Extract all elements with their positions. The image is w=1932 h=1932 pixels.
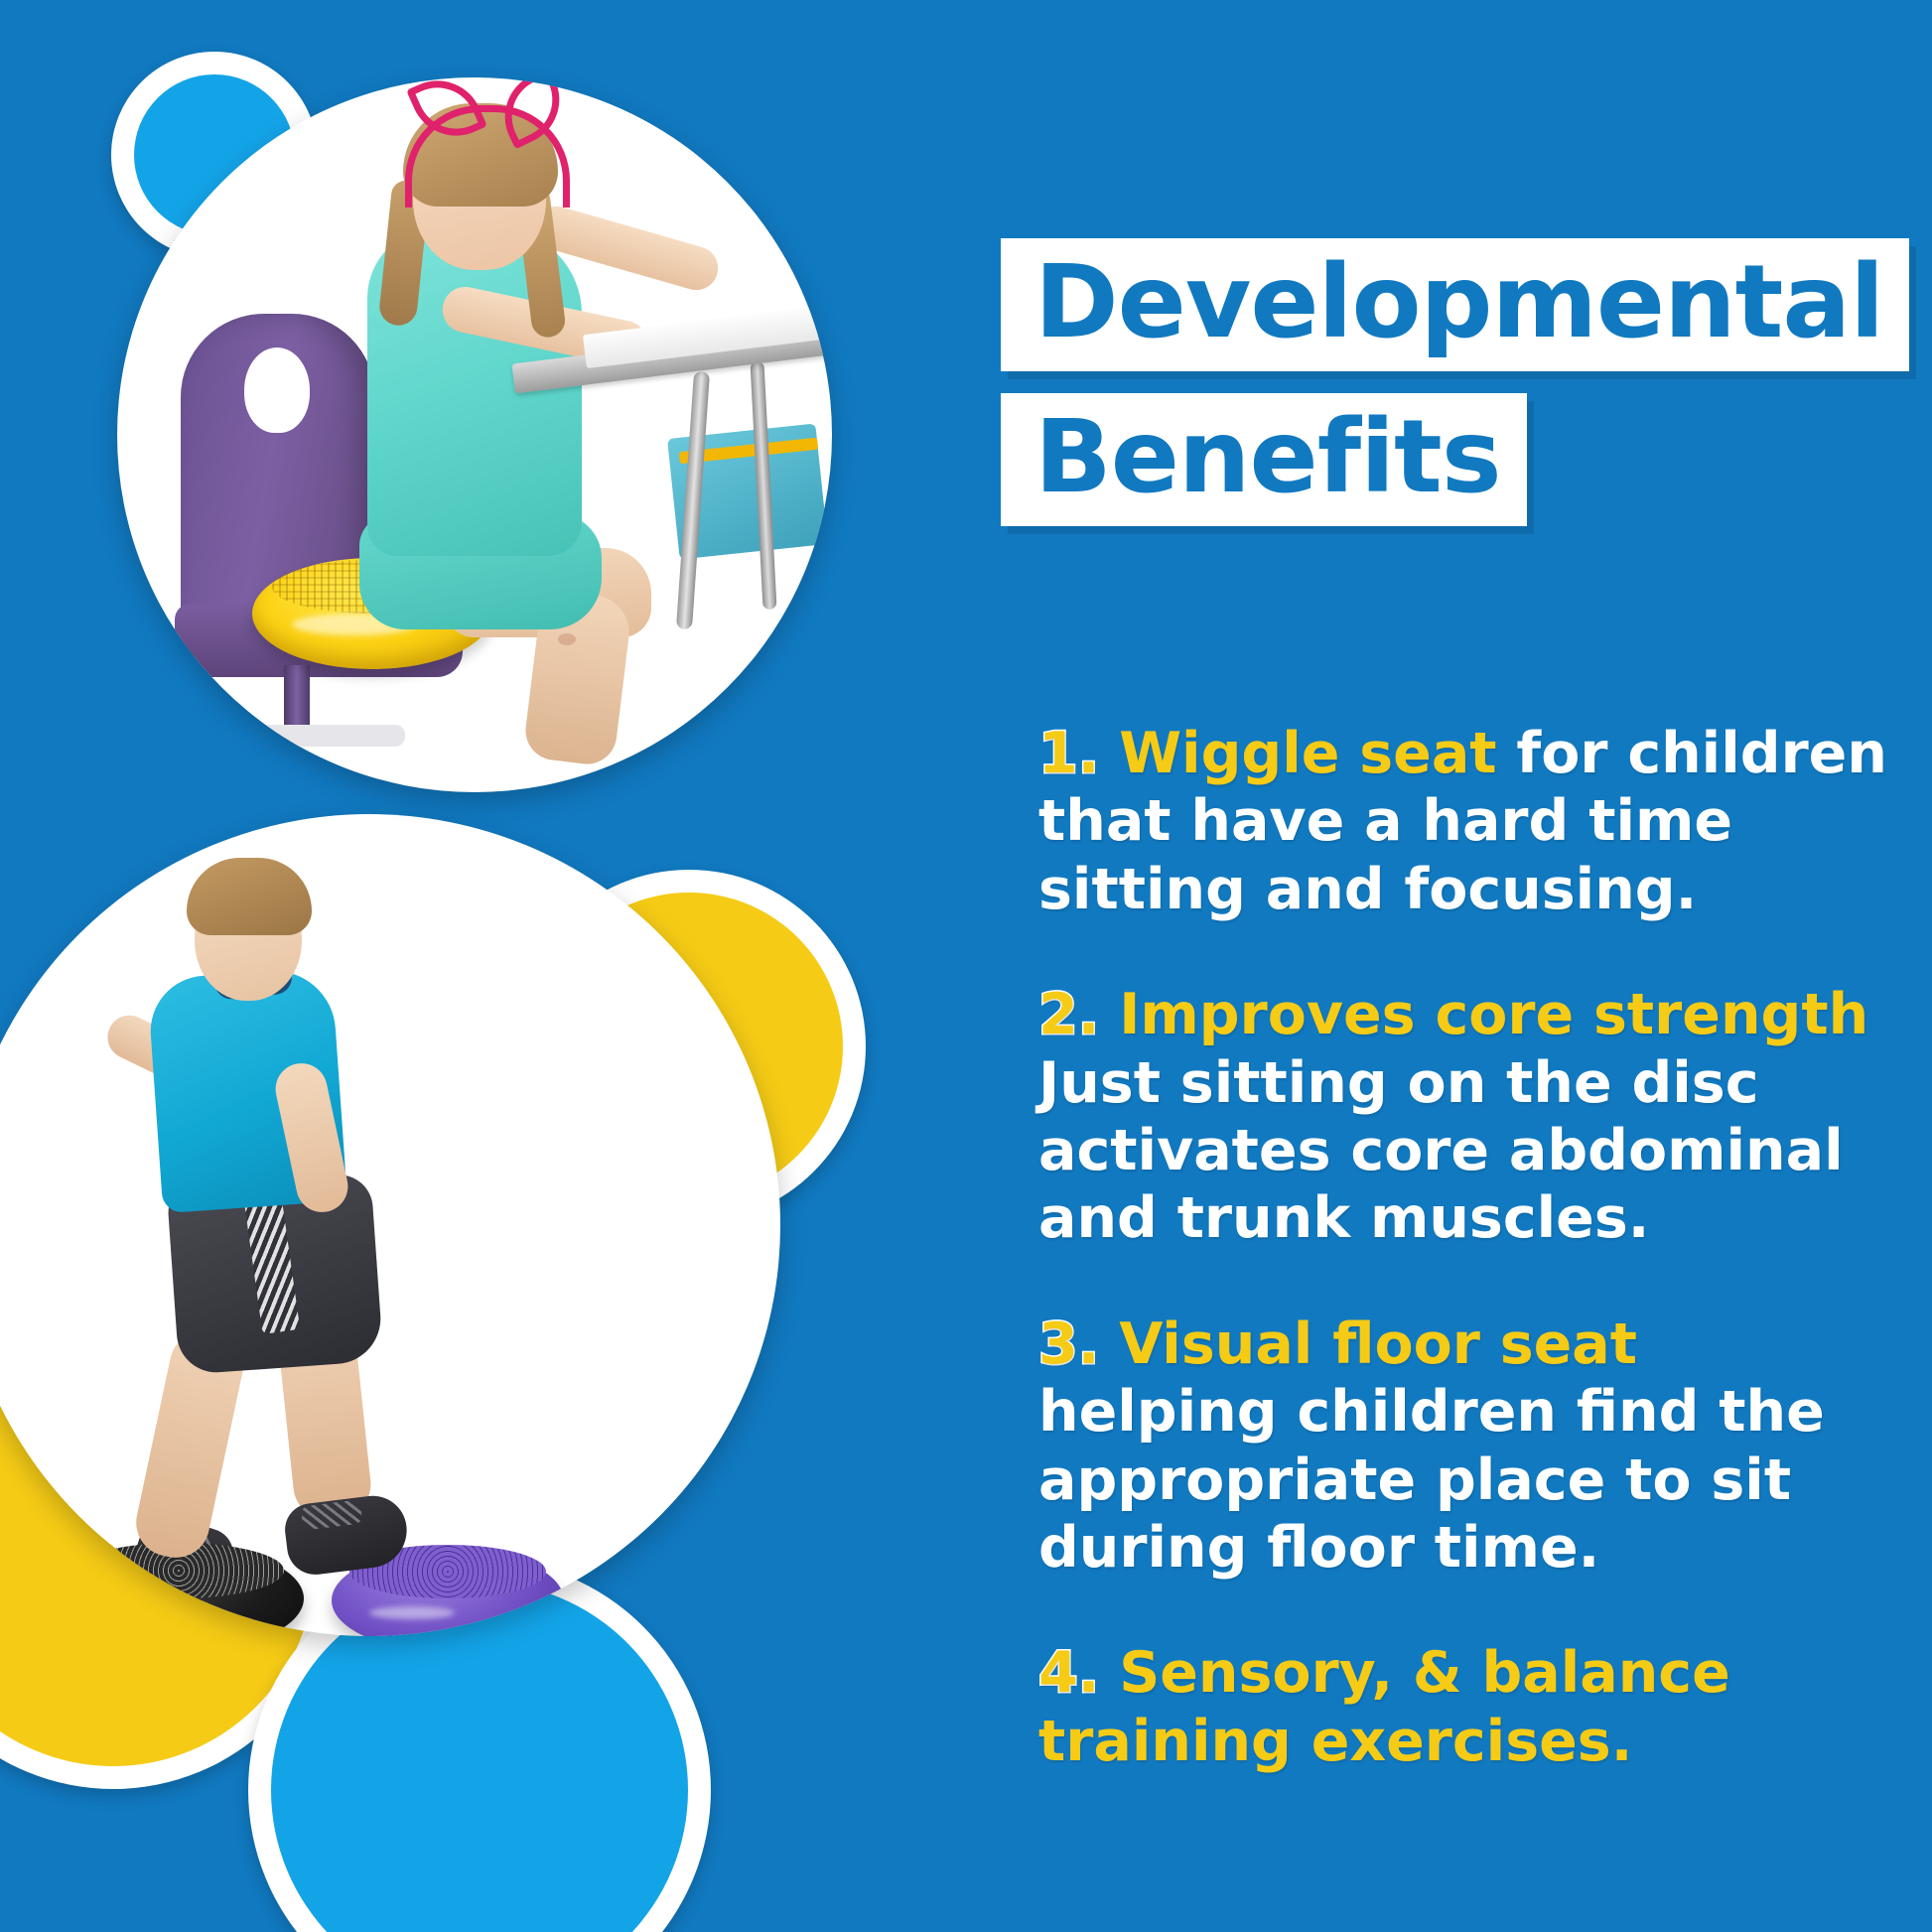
benefits-list: 1. Wiggle seat for children that have a … bbox=[1038, 663, 1888, 1775]
benefit-item-3: 3. Visual floor seat helping children fi… bbox=[1038, 1311, 1888, 1583]
benefit-4-lead: Sensory, & balance bbox=[1119, 1640, 1730, 1706]
title-banner-line1: Developmental bbox=[1001, 238, 1909, 371]
benefit-3-number: 3. bbox=[1038, 1311, 1099, 1377]
benefit-1-lead: Wiggle seat bbox=[1119, 721, 1496, 786]
chair-foot bbox=[236, 725, 405, 747]
benefit-3-lead: Visual floor seat bbox=[1119, 1311, 1637, 1377]
title-text-line1: Developmental bbox=[1035, 252, 1883, 353]
title-text-line2: Benefits bbox=[1035, 407, 1501, 508]
benefit-4-text: training exercises. bbox=[1038, 1709, 1632, 1774]
disc-gloss-purple bbox=[369, 1606, 455, 1619]
page-title: Developmental Benefits bbox=[1001, 238, 1932, 548]
benefit-item-1: 1. Wiggle seat for children that have a … bbox=[1038, 720, 1888, 923]
benefit-2-lead: Improves core strength bbox=[1119, 982, 1868, 1047]
girl-knee-mark bbox=[558, 633, 576, 645]
photo-bottom-scene bbox=[0, 814, 780, 1636]
benefit-2-text: Just sitting on the disc activates core … bbox=[1038, 1050, 1844, 1252]
disc-gloss-black bbox=[97, 1604, 189, 1618]
title-banner-line2: Benefits bbox=[1001, 393, 1527, 526]
benefit-1-number: 1. bbox=[1038, 721, 1099, 786]
photo-girl-on-wiggle-seat bbox=[117, 77, 832, 792]
photo-boy-on-balance-discs bbox=[0, 814, 780, 1636]
boy-hair bbox=[187, 858, 312, 935]
infographic-poster: Developmental Benefits 1. Wiggle seat fo… bbox=[0, 0, 1932, 1932]
benefit-item-2: 2. Improves core strength Just sitting o… bbox=[1038, 981, 1888, 1253]
benefit-2-number: 2. bbox=[1038, 982, 1099, 1047]
benefit-item-4: 4. Sensory, & balance training exercises… bbox=[1038, 1639, 1888, 1775]
photo-top-scene bbox=[117, 77, 832, 792]
benefit-4-number: 4. bbox=[1038, 1640, 1099, 1706]
chair-handle-cutout bbox=[244, 347, 310, 433]
benefit-3-text: helping children find the appropriate pl… bbox=[1038, 1379, 1825, 1581]
